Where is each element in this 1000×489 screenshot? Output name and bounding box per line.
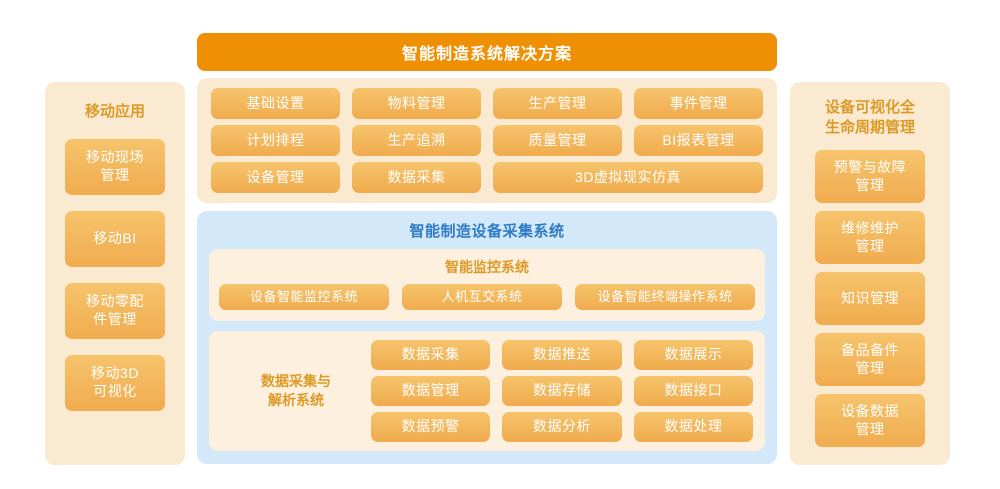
mes-module-3[interactable]: 事件管理	[634, 88, 763, 119]
data-acquisition-label: 数据采集与 解析系统	[221, 372, 371, 410]
data-item-4[interactable]: 数据存储	[502, 376, 621, 406]
mobile-application-panel: 移动应用 移动现场 管理移动BI移动零配 件管理移动3D 可视化	[45, 82, 185, 465]
mes-module-2[interactable]: 生产管理	[493, 88, 622, 119]
mes-module-grid: 基础设置物料管理生产管理事件管理计划排程生产追溯质量管理BI报表管理设备管理数据…	[211, 88, 763, 193]
mobile-application-item-list: 移动现场 管理移动BI移动零配 件管理移动3D 可视化	[45, 139, 185, 411]
mes-module-8[interactable]: 设备管理	[211, 162, 340, 193]
data-item-6[interactable]: 数据预警	[371, 412, 490, 442]
monitoring-item-0[interactable]: 设备智能监控系统	[219, 284, 389, 310]
mes-module-9[interactable]: 数据采集	[352, 162, 481, 193]
data-acquisition-grid: 数据采集数据推送数据展示数据管理数据存储数据接口数据预警数据分析数据处理	[371, 340, 753, 442]
data-item-5[interactable]: 数据接口	[634, 376, 753, 406]
mes-module-4[interactable]: 计划排程	[211, 125, 340, 156]
monitoring-item-1[interactable]: 人机互交系统	[402, 284, 562, 310]
lifecycle-item-4[interactable]: 设备数据 管理	[815, 394, 925, 447]
equipment-lifecycle-panel: 设备可视化全 生命周期管理 预警与故障 管理维修维护 管理知识管理备品备件 管理…	[790, 82, 950, 465]
data-item-7[interactable]: 数据分析	[502, 412, 621, 442]
data-acquisition-panel: 数据采集与 解析系统 数据采集数据推送数据展示数据管理数据存储数据接口数据预警数…	[209, 331, 765, 451]
equipment-collection-system-panel: 智能制造设备采集系统 智能监控系统 设备智能监控系统人机互交系统设备智能终端操作…	[197, 211, 777, 464]
mobile-app-item-2[interactable]: 移动零配 件管理	[65, 283, 165, 339]
data-item-1[interactable]: 数据推送	[502, 340, 621, 370]
mes-module-panel: 基础设置物料管理生产管理事件管理计划排程生产追溯质量管理BI报表管理设备管理数据…	[197, 78, 777, 203]
lifecycle-item-0[interactable]: 预警与故障 管理	[815, 150, 925, 203]
solution-title-bar: 智能制造系统解决方案	[197, 33, 777, 71]
diagram-canvas: 智能制造系统解决方案 移动应用 移动现场 管理移动BI移动零配 件管理移动3D …	[0, 0, 1000, 489]
mobile-app-item-1[interactable]: 移动BI	[65, 211, 165, 267]
lifecycle-item-3[interactable]: 备品备件 管理	[815, 333, 925, 386]
mes-module-0[interactable]: 基础设置	[211, 88, 340, 119]
intelligent-monitoring-panel: 智能监控系统 设备智能监控系统人机互交系统设备智能终端操作系统	[209, 249, 765, 321]
mes-module-5[interactable]: 生产追溯	[352, 125, 481, 156]
lifecycle-item-2[interactable]: 知识管理	[815, 272, 925, 325]
data-item-0[interactable]: 数据采集	[371, 340, 490, 370]
equipment-lifecycle-item-list: 预警与故障 管理维修维护 管理知识管理备品备件 管理设备数据 管理	[790, 150, 950, 447]
mes-module-10[interactable]: 3D虚拟现实仿真	[493, 162, 763, 193]
data-item-2[interactable]: 数据展示	[634, 340, 753, 370]
monitoring-item-row: 设备智能监控系统人机互交系统设备智能终端操作系统	[219, 284, 755, 310]
monitoring-heading: 智能监控系统	[219, 257, 755, 277]
monitoring-item-2[interactable]: 设备智能终端操作系统	[575, 284, 755, 310]
mes-module-7[interactable]: BI报表管理	[634, 125, 763, 156]
lifecycle-item-1[interactable]: 维修维护 管理	[815, 211, 925, 264]
mobile-app-item-3[interactable]: 移动3D 可视化	[65, 355, 165, 411]
mobile-app-item-0[interactable]: 移动现场 管理	[65, 139, 165, 195]
data-item-8[interactable]: 数据处理	[634, 412, 753, 442]
collection-system-heading: 智能制造设备采集系统	[209, 220, 765, 241]
mobile-application-heading: 移动应用	[45, 102, 185, 122]
mes-module-1[interactable]: 物料管理	[352, 88, 481, 119]
data-item-3[interactable]: 数据管理	[371, 376, 490, 406]
equipment-lifecycle-heading: 设备可视化全 生命周期管理	[790, 98, 950, 137]
mes-module-6[interactable]: 质量管理	[493, 125, 622, 156]
